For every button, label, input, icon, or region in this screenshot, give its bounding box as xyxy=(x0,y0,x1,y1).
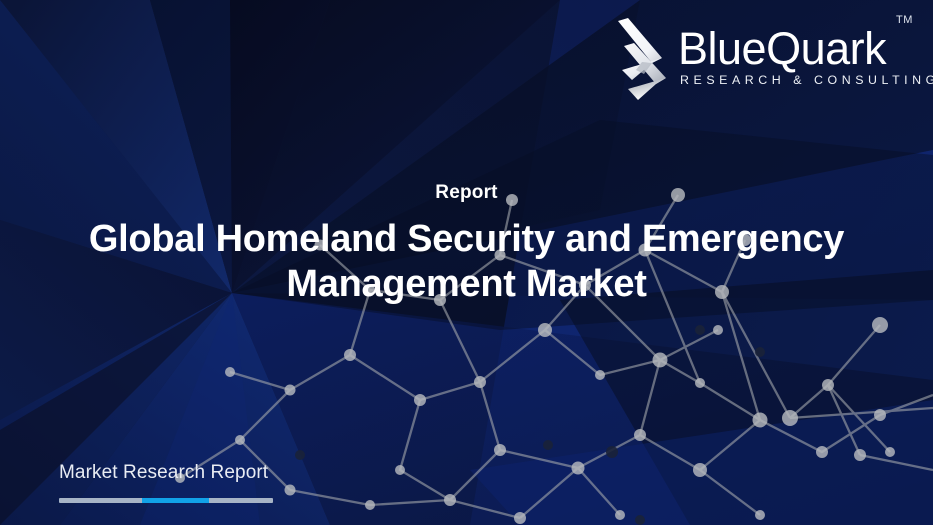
report-cover-page: BlueQuark RESEARCH & CONSULTING TM Repor… xyxy=(0,0,933,525)
report-kicker: Report xyxy=(60,182,873,204)
accent-segment-right xyxy=(209,498,273,503)
brand-name-blue: Blue xyxy=(678,23,766,74)
brand-name: BlueQuark xyxy=(678,24,933,74)
trademark-symbol: TM xyxy=(896,14,913,26)
brand-name-quark: Quark xyxy=(766,23,886,74)
page-title: Global Homeland Security and Emergency M… xyxy=(60,217,873,307)
accent-segment-middle xyxy=(142,498,208,503)
accent-divider-bar xyxy=(59,498,273,503)
bluequark-chevron-logo-icon xyxy=(614,18,672,102)
brand-logo: BlueQuark RESEARCH & CONSULTING xyxy=(614,14,914,106)
title-block: Report Global Homeland Security and Emer… xyxy=(60,182,873,307)
accent-segment-left xyxy=(59,498,142,503)
brand-wordmark: BlueQuark RESEARCH & CONSULTING xyxy=(678,24,933,87)
footer-block: Market Research Report xyxy=(59,462,274,503)
brand-tagline: RESEARCH & CONSULTING xyxy=(678,73,933,87)
footer-label: Market Research Report xyxy=(59,462,274,484)
